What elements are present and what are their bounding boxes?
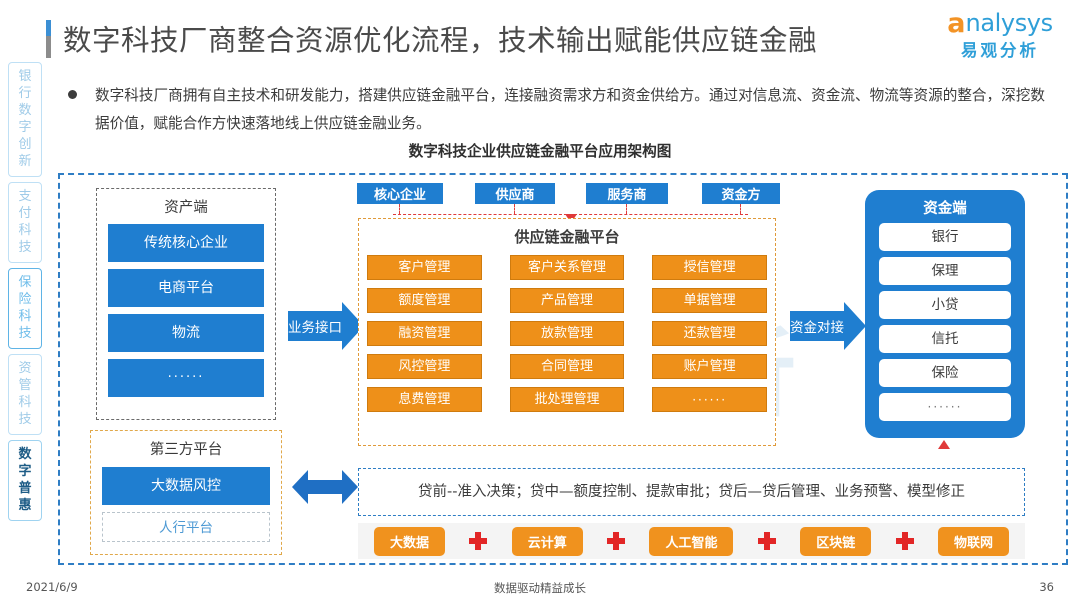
fund-item-trust[interactable]: 信托 bbox=[879, 325, 1011, 353]
fund-item-more[interactable]: ······ bbox=[879, 393, 1011, 421]
sidebar-item-payment-label: 支付科技 bbox=[9, 188, 41, 256]
sidebar-item-assetmgmt-label: 资管科技 bbox=[9, 360, 41, 428]
supply-chain-platform: 供应链金融平台 客户管理 客户关系管理 授信管理 额度管理 产品管理 单据管理 … bbox=[358, 218, 776, 446]
fund-panel-title: 资金端 bbox=[879, 197, 1011, 218]
sidebar-item-payment[interactable]: 支付科技 bbox=[8, 182, 42, 263]
funding-connection-arrow: 资金对接 bbox=[790, 311, 844, 341]
sidebar: 银行数字创新 支付科技 保险科技 资管科技 数字普惠 bbox=[8, 62, 44, 526]
role-box-supplier[interactable]: 供应商 bbox=[475, 183, 555, 204]
module-repayment-mgmt[interactable]: 还款管理 bbox=[652, 321, 767, 346]
fund-item-factoring[interactable]: 保理 bbox=[879, 257, 1011, 285]
analysys-logo: a nalysys 易观分析 bbox=[940, 8, 1060, 61]
module-quota-mgmt[interactable]: 额度管理 bbox=[367, 288, 482, 313]
bullet-dot-icon bbox=[68, 90, 77, 99]
title-accent-bar bbox=[46, 20, 51, 58]
footer-slogan: 数据驱动精益成长 bbox=[0, 580, 1080, 596]
diagram-subtitle: 数字科技企业供应链金融平台应用架构图 bbox=[0, 140, 1080, 161]
logo-chinese-text: 易观分析 bbox=[940, 37, 1060, 61]
fund-item-microloan[interactable]: 小贷 bbox=[879, 291, 1011, 319]
plus-icon-1 bbox=[469, 532, 487, 550]
bullet-paragraph: 数字科技厂商拥有自主技术和研发能力，搭建供应链金融平台，连接融资需求方和资金供给… bbox=[68, 82, 1068, 138]
platform-module-grid: 客户管理 客户关系管理 授信管理 额度管理 产品管理 单据管理 融资管理 放款管… bbox=[367, 255, 767, 412]
module-interest-fee-mgmt[interactable]: 息费管理 bbox=[367, 387, 482, 412]
plus-icon-4 bbox=[896, 532, 914, 550]
loan-lifecycle-band: 贷前--准入决策；贷中—额度控制、提款审批；贷后—贷后管理、业务预警、模型修正 bbox=[358, 468, 1025, 516]
module-contract-mgmt[interactable]: 合同管理 bbox=[510, 354, 625, 379]
role-box-core-enterprise[interactable]: 核心企业 bbox=[357, 183, 443, 204]
module-credit-grant-mgmt[interactable]: 授信管理 bbox=[652, 255, 767, 280]
third-party-panel-title: 第三方平台 bbox=[102, 438, 270, 459]
asset-side-panel: 资产端 传统核心企业 电商平台 物流 ······ bbox=[96, 188, 276, 420]
role-box-service-provider[interactable]: 服务商 bbox=[586, 183, 668, 204]
sidebar-item-inclusive-label: 数字普惠 bbox=[9, 446, 41, 514]
logo-word-text: nalysys bbox=[966, 11, 1053, 35]
slide-page: 数字科技厂商整合资源优化流程，技术输出赋能供应链金融 a nalysys 易观分… bbox=[0, 0, 1080, 608]
title-text: 数字科技厂商整合资源优化流程，技术输出赋能供应链金融 bbox=[63, 18, 817, 59]
funding-connection-arrowhead-icon bbox=[844, 302, 866, 350]
module-customer-mgmt[interactable]: 客户管理 bbox=[367, 255, 482, 280]
fund-item-insurance[interactable]: 保险 bbox=[879, 359, 1011, 387]
module-more[interactable]: ······ bbox=[652, 387, 767, 412]
third-party-item-pboc-platform[interactable]: 人行平台 bbox=[102, 512, 270, 542]
module-risk-control-mgmt[interactable]: 风控管理 bbox=[367, 354, 482, 379]
tech-pill-bigdata[interactable]: 大数据 bbox=[374, 527, 445, 556]
logo-o-glyph-icon: a bbox=[947, 10, 965, 37]
asset-item-core-enterprise[interactable]: 传统核心企业 bbox=[108, 224, 264, 262]
role-boxes: 核心企业 供应商 服务商 资金方 bbox=[355, 183, 780, 205]
module-batch-processing-mgmt[interactable]: 批处理管理 bbox=[510, 387, 625, 412]
sidebar-item-inclusive[interactable]: 数字普惠 bbox=[8, 440, 42, 521]
module-disbursement-mgmt[interactable]: 放款管理 bbox=[510, 321, 625, 346]
module-document-mgmt[interactable]: 单据管理 bbox=[652, 288, 767, 313]
bidirectional-arrow-icon bbox=[292, 470, 358, 504]
sidebar-item-insurance-label: 保险科技 bbox=[9, 274, 41, 342]
module-product-mgmt[interactable]: 产品管理 bbox=[510, 288, 625, 313]
tech-pill-iot[interactable]: 物联网 bbox=[938, 527, 1009, 556]
business-interface-arrow: 业务接口 bbox=[288, 311, 342, 341]
sidebar-item-assetmgmt[interactable]: 资管科技 bbox=[8, 354, 42, 435]
third-party-item-bigdata-risk[interactable]: 大数据风控 bbox=[102, 467, 270, 505]
tech-pill-ai[interactable]: 人工智能 bbox=[649, 527, 733, 556]
business-interface-label: 业务接口 bbox=[288, 316, 342, 336]
asset-item-more[interactable]: ······ bbox=[108, 359, 264, 397]
plus-icon-2 bbox=[607, 532, 625, 550]
fund-side-panel: 资金端 银行 保理 小贷 信托 保险 ······ bbox=[865, 190, 1025, 438]
footer: 2021/6/9 数据驱动精益成长 36 bbox=[0, 580, 1080, 598]
third-party-panel: 第三方平台 大数据风控 人行平台 bbox=[90, 430, 282, 555]
bullet-text: 数字科技厂商拥有自主技术和研发能力，搭建供应链金融平台，连接融资需求方和资金供给… bbox=[95, 82, 1045, 138]
loan-lifecycle-text: 贷前--准入决策；贷中—额度控制、提款审批；贷后—贷后管理、业务预警、模型修正 bbox=[404, 481, 979, 503]
page-title: 数字科技厂商整合资源优化流程，技术输出赋能供应链金融 bbox=[46, 18, 817, 59]
role-box-funder[interactable]: 资金方 bbox=[702, 183, 780, 204]
sidebar-item-bank[interactable]: 银行数字创新 bbox=[8, 62, 42, 177]
module-account-mgmt[interactable]: 账户管理 bbox=[652, 354, 767, 379]
funding-connection-label: 资金对接 bbox=[790, 316, 844, 336]
module-crm[interactable]: 客户关系管理 bbox=[510, 255, 625, 280]
logo-wordmark: a nalysys bbox=[940, 8, 1060, 35]
footer-page-number: 36 bbox=[1039, 580, 1054, 594]
asset-item-logistics[interactable]: 物流 bbox=[108, 314, 264, 352]
tech-pill-cloud[interactable]: 云计算 bbox=[512, 527, 583, 556]
tech-stack-strip: 大数据 云计算 人工智能 区块链 物联网 bbox=[358, 523, 1025, 559]
sidebar-item-bank-label: 银行数字创新 bbox=[9, 68, 41, 170]
platform-title: 供应链金融平台 bbox=[367, 226, 767, 247]
asset-panel-title: 资产端 bbox=[108, 196, 264, 217]
plus-icon-3 bbox=[758, 532, 776, 550]
fund-item-bank[interactable]: 银行 bbox=[879, 223, 1011, 251]
fund-connector-arrowhead-icon bbox=[938, 440, 950, 449]
tech-pill-blockchain[interactable]: 区块链 bbox=[800, 527, 871, 556]
asset-item-ecommerce[interactable]: 电商平台 bbox=[108, 269, 264, 307]
sidebar-item-insurance[interactable]: 保险科技 bbox=[8, 268, 42, 349]
module-financing-mgmt[interactable]: 融资管理 bbox=[367, 321, 482, 346]
